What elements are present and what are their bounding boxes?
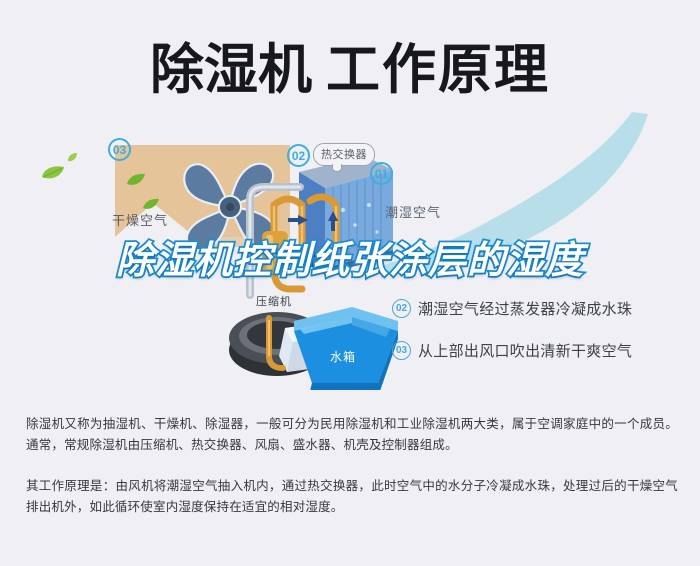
label-moist-air: 潮湿空气 [385,202,441,221]
leaf-icon [67,152,78,163]
body-copy: 除湿机又称为抽湿机、干燥机、除湿器，一般可分为民用除湿机和工业除湿机两大类，属于… [26,414,678,518]
list-item: 03 从上部出风口吹出清新干爽空气 [392,340,692,361]
step-badge: 02 [392,299,411,318]
label-dry-air: 干燥空气 [112,210,168,229]
page-title: 除湿机工作原理 [150,43,550,97]
page-header: 除湿机工作原理 [0,30,700,110]
leaf-icon [126,173,146,187]
step-badge: 03 [392,341,411,360]
callout-heat-exchanger: 热交换器 [313,143,375,166]
badge-moist-air: 01 [370,162,393,185]
step-list: 02 潮湿空气经过蒸发器冷凝成水珠 03 从上部出风口吹出清新干爽空气 [392,298,692,382]
step-text: 从上部出风口吹出清新干爽空气 [418,340,632,361]
page-title-part2: 工作原理 [326,38,550,101]
leaf-icon [40,165,66,181]
step-text: 潮湿空气经过蒸发器冷凝成水珠 [418,298,632,319]
label-water-tank: 水箱 [330,348,356,365]
paragraph-overview: 除湿机又称为抽湿机、干燥机、除湿器，一般可分为民用除湿机和工业除湿机两大类，属于… [26,414,678,456]
label-compressor: 压缩机 [256,293,292,309]
list-item: 02 潮湿空气经过蒸发器冷凝成水珠 [392,298,692,319]
badge-dry-air: 03 [108,138,131,161]
paragraph-principle: 其工作原理是：由风机将潮湿空气抽入机内，通过热交换器，此时空气中的水分子冷凝成水… [26,476,678,518]
badge-heat-exchanger: 02 [287,144,310,167]
page-title-part1: 除湿机 [150,38,312,101]
